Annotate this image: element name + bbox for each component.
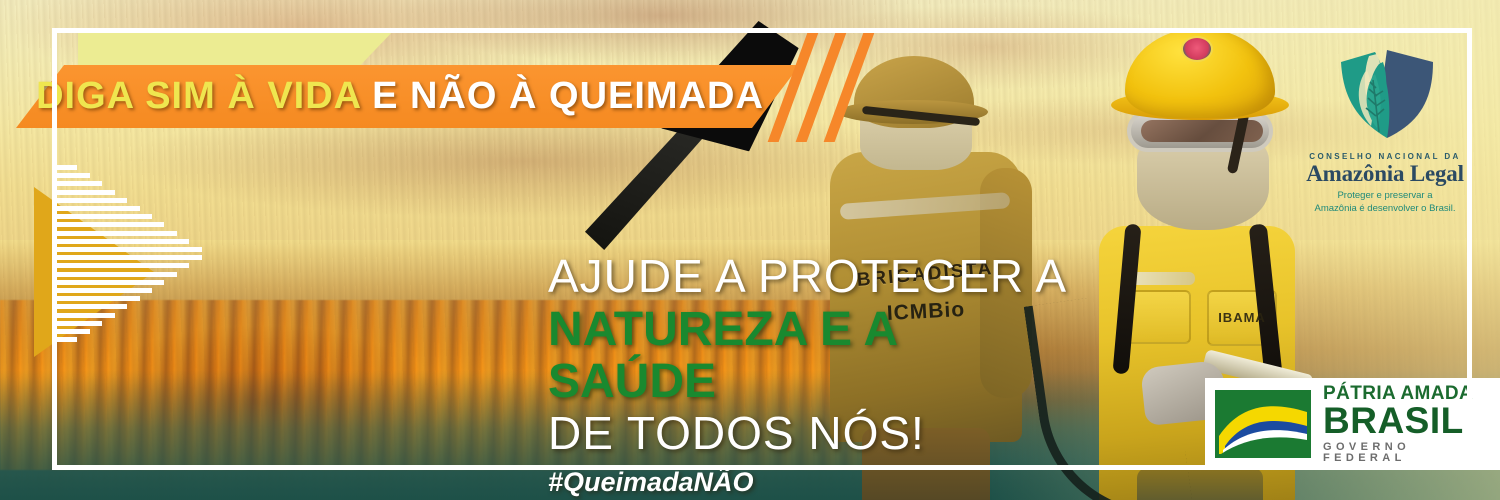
arrow-stripe-line bbox=[56, 214, 152, 219]
arrow-stripe-line bbox=[56, 206, 140, 211]
arrow-decoration bbox=[34, 165, 214, 365]
headline-ribbon: DIGA SIM À VIDA E NÃO À QUEIMADA bbox=[0, 28, 880, 128]
helmet-sticker-icon bbox=[1181, 36, 1213, 62]
brasil-flag-icon bbox=[1215, 390, 1311, 458]
governo-federal-logo: PÁTRIA AMADA BRASIL GOVERNO FEDERAL bbox=[1205, 378, 1500, 470]
arrow-stripe-line bbox=[56, 263, 189, 268]
arrow-stripe-line bbox=[56, 231, 177, 236]
arrow-stripe-line bbox=[56, 313, 115, 318]
amazonia-tagline: Proteger e preservar a Amazônia é desenv… bbox=[1295, 190, 1475, 216]
uniform-label-ibama: IBAMA bbox=[1209, 310, 1275, 325]
main-message: AJUDE A PROTEGER A NATUREZA E A SAÚDE DE… bbox=[548, 252, 1068, 498]
brasil-line-3: GOVERNO FEDERAL bbox=[1323, 442, 1495, 464]
firefighter-front-balaclava bbox=[1137, 140, 1269, 230]
arrow-stripe-line bbox=[56, 321, 102, 326]
arrow-stripe-line bbox=[56, 280, 164, 285]
headline-highlight: DIGA SIM À VIDA bbox=[36, 75, 362, 118]
diagonal-stripes-decoration bbox=[782, 30, 892, 140]
arrow-stripe-line bbox=[56, 329, 90, 334]
arrow-stripe-line bbox=[56, 181, 102, 186]
message-line-1: AJUDE A PROTEGER A bbox=[548, 252, 1068, 302]
arrow-stripe-line bbox=[56, 296, 140, 301]
amazonia-kicker: CONSELHO NACIONAL DA bbox=[1295, 152, 1475, 161]
arrow-stripe-line bbox=[56, 272, 177, 277]
amazonia-tagline-line-1: Proteger e preservar a bbox=[1295, 190, 1475, 203]
shield-leaf-icon bbox=[1329, 46, 1441, 142]
arrow-stripe-line bbox=[56, 222, 164, 227]
amazonia-tagline-line-2: Amazônia é desenvolver o Brasil. bbox=[1295, 203, 1475, 216]
message-line-3: DE TODOS NÓS! bbox=[548, 409, 1068, 459]
arrow-stripe-line bbox=[56, 288, 152, 293]
arrow-stripe-line bbox=[56, 190, 115, 195]
campaign-hashtag: #QueimadaNÃO bbox=[548, 467, 1068, 498]
headline-rest: E NÃO À QUEIMADA bbox=[372, 75, 764, 118]
arrow-stripe-line bbox=[56, 239, 189, 244]
brasil-line-2: BRASIL bbox=[1323, 403, 1495, 439]
message-line-2: NATUREZA E A SAÚDE bbox=[548, 304, 1068, 408]
headline-text: DIGA SIM À VIDA E NÃO À QUEIMADA bbox=[0, 65, 800, 128]
arrow-stripe-line bbox=[56, 304, 127, 309]
arrow-stripe-lines bbox=[56, 165, 214, 347]
amazonia-name: Amazônia Legal bbox=[1295, 162, 1475, 186]
ribbon-accent-band bbox=[78, 28, 396, 68]
amazonia-legal-logo: CONSELHO NACIONAL DA Amazônia Legal Prot… bbox=[1295, 46, 1475, 216]
brasil-logo-text: PÁTRIA AMADA BRASIL GOVERNO FEDERAL bbox=[1323, 384, 1495, 464]
campaign-banner: BRIGADISTA ICMBio IBAMA bbox=[0, 0, 1500, 500]
arrow-stripe-line bbox=[56, 337, 77, 342]
arrow-stripe-line bbox=[56, 165, 77, 170]
arrow-stripe-line bbox=[56, 173, 90, 178]
arrow-stripe-line bbox=[56, 198, 127, 203]
arrow-stripe-line bbox=[56, 255, 202, 260]
arrow-stripe-line bbox=[56, 247, 202, 252]
